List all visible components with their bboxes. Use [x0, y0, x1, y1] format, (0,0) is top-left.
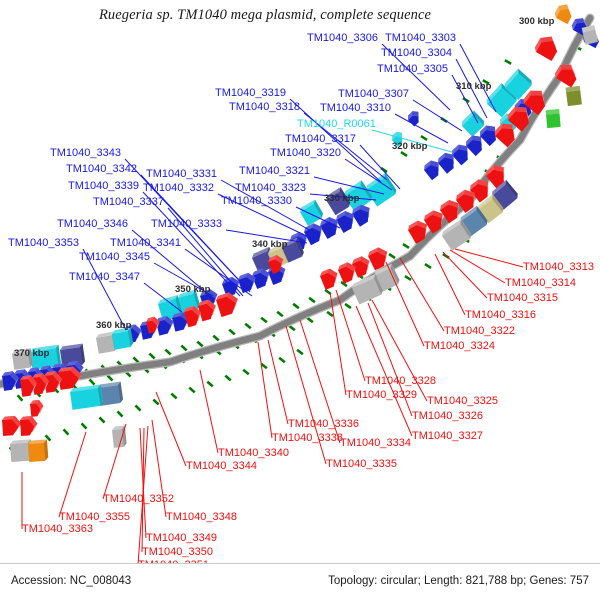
genome-map-viewer: Ruegeria sp. TM1040 mega plasmid, comple…: [0, 0, 600, 600]
gene-label[interactable]: TM1040_3318: [229, 102, 300, 113]
ruler-tick-label: 310 kbp: [456, 81, 491, 92]
gene-label[interactable]: TM1040_3349: [146, 533, 217, 544]
gc-skew-tick: [278, 357, 285, 363]
gene-label[interactable]: TM1040_3305: [377, 64, 448, 75]
gene-feature[interactable]: [197, 298, 219, 321]
gc-skew-tick: [148, 353, 155, 360]
ruler-tick-label: 370 kbp: [14, 348, 49, 359]
gene-label[interactable]: TM1040_3322: [444, 326, 515, 337]
gene-label[interactable]: TM1040_3333: [151, 219, 222, 230]
label-leader-line: [455, 249, 523, 267]
gc-skew-tick: [224, 375, 231, 382]
topology-text: Topology: circular; Length: 821,788 bp; …: [328, 575, 589, 587]
gene-feature[interactable]: [70, 384, 104, 409]
gc-skew-tick: [296, 349, 303, 355]
gene-label[interactable]: TM1040_3339: [68, 181, 139, 192]
gc-skew-tick: [117, 411, 124, 418]
label-leader-line: [356, 306, 412, 436]
gene-label[interactable]: TM1040_3307: [338, 89, 409, 100]
gc-skew-tick: [135, 405, 142, 412]
gene-label[interactable]: TM1040_3343: [50, 148, 121, 159]
gc-skew-tick: [196, 341, 203, 348]
gc-skew-tick: [212, 335, 219, 342]
gene-label[interactable]: TM1040_3327: [412, 431, 483, 442]
gene-feature[interactable]: [20, 416, 38, 436]
gene-label[interactable]: TM1040_3341: [110, 238, 181, 249]
gene-label[interactable]: TM1040_3306: [307, 33, 378, 44]
label-leader-line: [413, 100, 462, 131]
ruler-tick-label: 360 kbp: [96, 320, 131, 331]
gene-label[interactable]: TM1040_3334: [340, 438, 411, 449]
gc-skew-tick: [63, 428, 70, 435]
gene-label[interactable]: TM1040_3329: [346, 390, 417, 401]
label-leader-line: [330, 292, 346, 395]
gene-label[interactable]: TM1040_3352: [103, 494, 174, 505]
gene-label[interactable]: TM1040_3321: [239, 166, 310, 177]
gene-label[interactable]: TM1040_3320: [270, 148, 341, 159]
gene-feature[interactable]: [557, 80, 590, 113]
label-leader-line-layer: [22, 44, 523, 565]
ruler-tick-label: 340 kbp: [252, 239, 287, 250]
gene-label[interactable]: TM1040_3350: [142, 547, 213, 558]
label-leader-line: [258, 342, 272, 438]
label-leader-line: [435, 254, 465, 315]
gc-skew-tick: [388, 253, 395, 259]
ruler-tick-label: 300 kbp: [519, 16, 554, 27]
gene-label[interactable]: TM1040_3325: [427, 396, 498, 407]
gene-label[interactable]: TM1040_3342: [66, 164, 137, 175]
gene-label[interactable]: TM1040_3310: [320, 103, 391, 114]
gene-label[interactable]: TM1040_3319: [215, 88, 286, 99]
gc-skew-tick: [292, 303, 299, 309]
gene-label[interactable]: TM1040_3346: [57, 219, 128, 230]
gene-feature[interactable]: [553, 1, 575, 24]
gene-label[interactable]: TM1040_3303: [385, 33, 456, 44]
label-leader-line: [386, 262, 424, 346]
ruler-tick-label: 350 kbp: [175, 284, 210, 295]
gene-label[interactable]: TM1040_3316: [465, 310, 536, 321]
label-leader-line: [268, 340, 288, 424]
gene-label[interactable]: TM1040_3324: [424, 341, 495, 352]
label-leader-line: [400, 258, 444, 331]
gc-skew-tick: [308, 297, 315, 303]
gene-label[interactable]: TM1040_3355: [59, 512, 130, 523]
gene-label[interactable]: TM1040_3317: [285, 134, 356, 145]
gene-label[interactable]: TM1040_3348: [166, 512, 237, 523]
gene-label[interactable]: TM1040_3330: [221, 196, 292, 207]
gene-label[interactable]: TM1040_3340: [218, 448, 289, 459]
gene-feature[interactable]: [406, 109, 424, 127]
gene-feature[interactable]: [215, 290, 242, 317]
gene-feature[interactable]: [298, 200, 324, 226]
gc-skew-tick: [344, 303, 351, 309]
gc-skew-tick: [152, 399, 159, 406]
ruler-tick-label: 320 kbp: [392, 141, 427, 152]
gene-feature[interactable]: [2, 415, 22, 435]
gc-skew-tick: [276, 311, 283, 318]
gene-label[interactable]: TM1040_3345: [79, 252, 150, 263]
gene-label[interactable]: TM1040_3304: [381, 48, 452, 59]
gene-label[interactable]: TM1040_3313: [523, 262, 594, 273]
gene-label[interactable]: TM1040_3335: [326, 459, 397, 470]
label-leader-line: [156, 392, 186, 466]
gene-feature[interactable]: [30, 399, 45, 416]
gene-label[interactable]: TM1040_3315: [487, 293, 558, 304]
gc-skew-tick: [81, 422, 88, 429]
gc-skew-tick: [424, 263, 431, 269]
gene-label[interactable]: TM1040_3347: [69, 272, 140, 283]
gc-skew-tick: [260, 317, 267, 324]
gc-skew-tick: [170, 393, 177, 400]
gc-skew-tick: [504, 59, 512, 65]
gc-skew-tick: [188, 387, 195, 394]
gene-label[interactable]: TM1040_3363: [22, 524, 93, 535]
gene-label[interactable]: TM1040_3323: [235, 183, 306, 194]
gene-label[interactable]: TM1040_3338: [272, 433, 343, 444]
accession-text: Accession: NC_008043: [11, 575, 131, 587]
gene-label[interactable]: TM1040_3328: [365, 376, 436, 387]
gc-skew-tick: [228, 329, 235, 336]
gene-label[interactable]: TM1040_3326: [412, 411, 483, 422]
label-leader-line: [59, 432, 86, 517]
gene-feature[interactable]: [28, 439, 49, 461]
gc-skew-tick: [242, 369, 249, 376]
gene-label[interactable]: TM1040_3336: [288, 419, 359, 430]
status-footer: Accession: NC_008043 Topology: circular;…: [0, 563, 600, 600]
gene-label[interactable]: TM1040_3353: [8, 238, 79, 249]
gc-skew-tick: [99, 417, 106, 424]
gc-skew-tick: [164, 349, 171, 356]
ruler-tick-label: 330 kbp: [324, 193, 359, 204]
gene-label[interactable]: TM1040_3344: [186, 461, 257, 472]
gene-label[interactable]: TM1040_3337: [93, 197, 164, 208]
gc-skew-tick: [244, 323, 251, 330]
gene-label[interactable]: TM1040_3314: [505, 278, 576, 289]
gene-feature[interactable]: [533, 32, 562, 61]
gc-skew-tick: [402, 243, 409, 249]
gc-skew-tick: [180, 345, 187, 352]
gene-label[interactable]: TM1040_3331: [146, 169, 217, 180]
gene-label[interactable]: TM1040_3332: [143, 183, 214, 194]
gc-skew-tick: [206, 381, 213, 388]
gene-label[interactable]: TM1040_R0061: [297, 119, 376, 130]
gc-skew-tick: [89, 379, 96, 386]
